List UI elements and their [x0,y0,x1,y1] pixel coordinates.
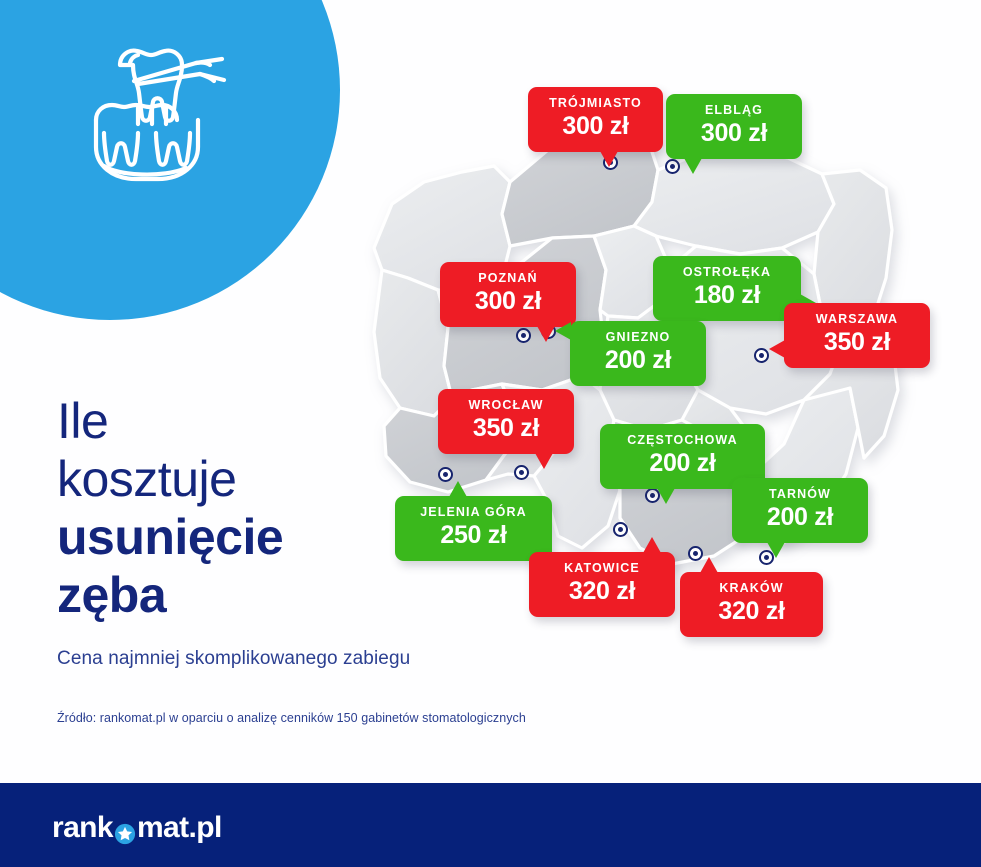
rankomat-logo[interactable]: rank mat.pl [52,811,222,845]
callout-tail [657,488,675,504]
callout-city-label: POZNAŃ [456,271,560,286]
logo-text-left: rank [52,811,113,845]
callout-price-value: 180 zł [669,281,785,310]
callout-city-label: KATOWICE [545,561,659,576]
source-note: Źródło: rankomat.pl w oparciu o analizę … [57,711,526,725]
footer-bar: rank mat.pl [0,783,981,867]
callout-kraków[interactable]: KRAKÓW320 zł [680,572,823,637]
callout-price-value: 320 zł [545,577,659,606]
callout-city-label: CZĘSTOCHOWA [616,433,749,448]
callout-tail [767,542,785,558]
callout-city-label: KRAKÓW [696,581,807,596]
callout-city-label: JELENIA GÓRA [411,505,536,520]
callout-tail [769,340,785,358]
page-title: Ile kosztuje usunięcie zęba [57,392,283,624]
callout-city-label: WROCŁAW [454,398,558,413]
callout-city-label: WARSZAWA [800,312,914,327]
callout-tail [537,326,555,342]
callout-tail [449,481,467,497]
callout-jelenia-góra[interactable]: JELENIA GÓRA250 zł [395,496,552,561]
callout-price-value: 350 zł [454,414,558,443]
map-pin-warszawa[interactable] [754,348,769,363]
logo-text-right: mat.pl [137,811,222,845]
callout-price-value: 300 zł [456,287,560,316]
callout-poznań[interactable]: POZNAŃ300 zł [440,262,576,327]
callout-tail [700,557,718,573]
callout-trójmiasto[interactable]: TRÓJMIASTO300 zł [528,87,663,152]
headline-line-4: zęba [57,566,283,624]
callout-price-value: 200 zł [616,449,749,478]
callout-price-value: 350 zł [800,328,914,357]
callout-city-label: TRÓJMIASTO [544,96,647,111]
callout-city-label: TARNÓW [748,487,852,502]
callout-tail [684,158,702,174]
star-icon [114,819,136,841]
callout-city-label: OSTROŁĘKA [669,265,785,280]
map-pin-elbląg[interactable] [665,159,680,174]
map-pin-poznań[interactable] [516,328,531,343]
headline-line-3: usunięcie [57,508,283,566]
callout-tarnów[interactable]: TARNÓW200 zł [732,478,868,543]
callout-city-label: GNIEZNO [586,330,690,345]
map-pin-jelenia-góra[interactable] [438,467,453,482]
infographic-root: Ile kosztuje usunięcie zęba Cena najmnie… [0,0,981,867]
callout-tail [600,151,618,167]
tooth-extraction-icon [60,38,230,203]
callout-tail [535,453,553,469]
callout-tail [555,322,571,340]
callout-ostrołęka[interactable]: OSTROŁĘKA180 zł [653,256,801,321]
callout-price-value: 250 zł [411,521,536,550]
headline-line-2: kosztuje [57,450,283,508]
callout-gniezno[interactable]: GNIEZNO200 zł [570,321,706,386]
callout-price-value: 200 zł [586,346,690,375]
callout-katowice[interactable]: KATOWICE320 zł [529,552,675,617]
callout-elbląg[interactable]: ELBLĄG300 zł [666,94,802,159]
callout-price-value: 200 zł [748,503,852,532]
map-pin-katowice[interactable] [613,522,628,537]
callout-tail [643,537,661,553]
callout-warszawa[interactable]: WARSZAWA350 zł [784,303,930,368]
callout-price-value: 300 zł [682,119,786,148]
callout-price-value: 300 zł [544,112,647,141]
map-pin-wrocław[interactable] [514,465,529,480]
headline-line-1: Ile [57,392,283,450]
callout-price-value: 320 zł [696,597,807,626]
callout-city-label: ELBLĄG [682,103,786,118]
poland-map: TRÓJMIASTO300 złELBLĄG300 złPOZNAŃ300 zł… [352,78,981,678]
callout-wrocław[interactable]: WROCŁAW350 zł [438,389,574,454]
